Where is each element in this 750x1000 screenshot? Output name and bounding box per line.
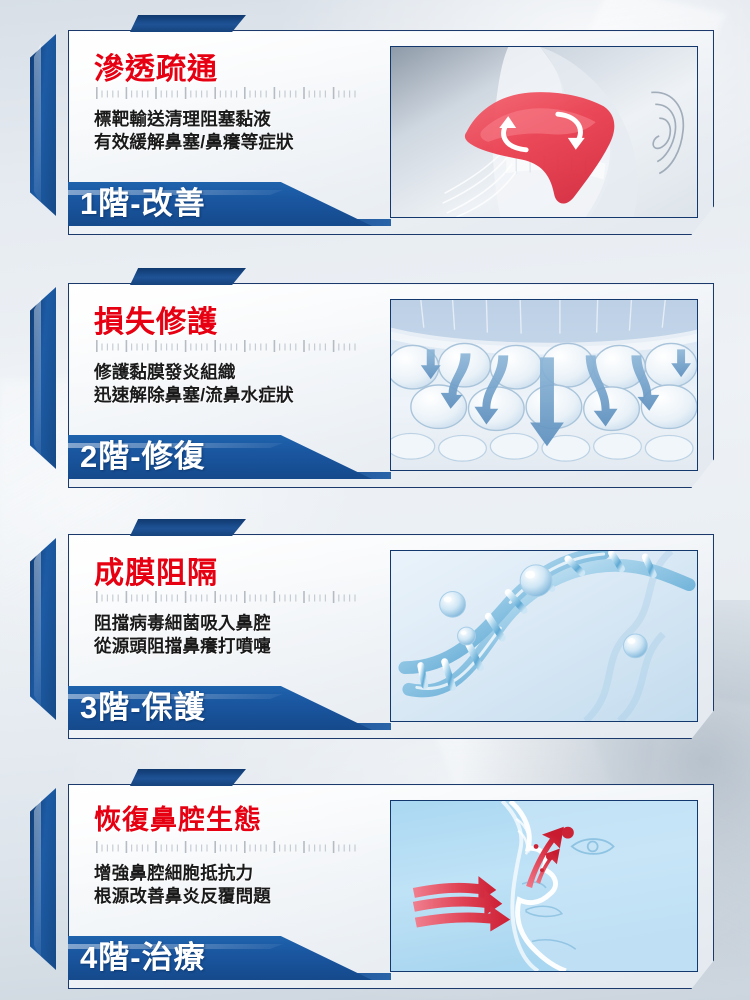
card-description: 標靶輸送清理阻塞黏液 有效緩解鼻塞/鼻癢等症狀 (94, 108, 376, 154)
card-text-column: 成膜阻隔 阻擋病毒細菌吸入鼻腔 從源頭阻擋鼻癢打噴嚏 3階-保護 (68, 534, 378, 739)
card-description: 阻擋病毒細菌吸入鼻腔 從源頭阻擋鼻癢打噴嚏 (94, 612, 376, 658)
ruler-decoration (94, 340, 362, 353)
ruler-decoration (94, 591, 362, 604)
stage-card: 恢復鼻腔生態 增強鼻腔細胞抵抗力 根源改善鼻炎反覆問題 4階-治療 (68, 784, 714, 989)
stage-label: 2階-修復 (80, 431, 206, 476)
card-left-rail (30, 538, 56, 720)
card-description-line-2: 有效緩解鼻塞/鼻癢等症狀 (94, 131, 376, 154)
card-description-line-2: 迅速解除鼻塞/流鼻水症狀 (94, 384, 376, 407)
stage-card: 成膜阻隔 阻擋病毒細菌吸入鼻腔 從源頭阻擋鼻癢打噴嚏 3階-保護 (68, 534, 714, 739)
card-left-rail-highlight (34, 40, 41, 208)
stage-card: 滲透疏通 標靶輸送清理阻塞黏液 有效緩解鼻塞/鼻癢等症狀 1階-改善 (68, 30, 714, 235)
card-text-column: 恢復鼻腔生態 增強鼻腔細胞抵抗力 根源改善鼻炎反覆問題 4階-治療 (68, 784, 378, 989)
card-description: 增強鼻腔細胞抵抗力 根源改善鼻炎反覆問題 (94, 862, 376, 908)
card-description-line-1: 標靶輸送清理阻塞黏液 (94, 108, 376, 131)
card-left-rail-highlight (34, 544, 41, 712)
card-heading: 損失修護 (94, 297, 218, 341)
card-left-rail-highlight (34, 293, 41, 461)
ruler-decoration (94, 841, 362, 854)
ruler-decoration (94, 87, 362, 100)
card-left-rail (30, 287, 56, 469)
card-description-line-1: 阻擋病毒細菌吸入鼻腔 (94, 612, 376, 635)
card-description: 修護黏膜發炎組織 迅速解除鼻塞/流鼻水症狀 (94, 361, 376, 407)
card-heading: 滲透疏通 (94, 44, 218, 88)
card-description-line-1: 增強鼻腔細胞抵抗力 (94, 862, 376, 885)
card-heading: 恢復鼻腔生態 (94, 798, 262, 837)
mucosa-cell-tissue-repair-illustration (390, 299, 698, 471)
stage-card: 損失修護 修護黏膜發炎組織 迅速解除鼻塞/流鼻水症狀 2階-修復 (68, 283, 714, 488)
card-text-column: 滲透疏通 標靶輸送清理阻塞黏液 有效緩解鼻塞/鼻癢等症狀 1階-改善 (68, 30, 378, 235)
card-text-column: 損失修護 修護黏膜發炎組織 迅速解除鼻塞/流鼻水症狀 2階-修復 (68, 283, 378, 488)
card-heading: 成膜阻隔 (94, 548, 218, 592)
stage-label: 4階-治療 (80, 932, 206, 977)
face-profile-airflow-illustration (390, 800, 698, 972)
card-left-rail-highlight (34, 794, 41, 962)
card-description-line-2: 從源頭阻擋鼻癢打噴嚏 (94, 635, 376, 658)
card-left-rail (30, 788, 56, 970)
nasal-passage-mucus-clearing-illustration (390, 46, 698, 218)
dna-double-helix-illustration (390, 550, 698, 722)
stage-label: 1階-改善 (80, 178, 206, 223)
card-description-line-2: 根源改善鼻炎反覆問題 (94, 885, 376, 908)
stage-label: 3階-保護 (80, 682, 206, 727)
card-description-line-1: 修護黏膜發炎組織 (94, 361, 376, 384)
card-left-rail (30, 34, 56, 216)
